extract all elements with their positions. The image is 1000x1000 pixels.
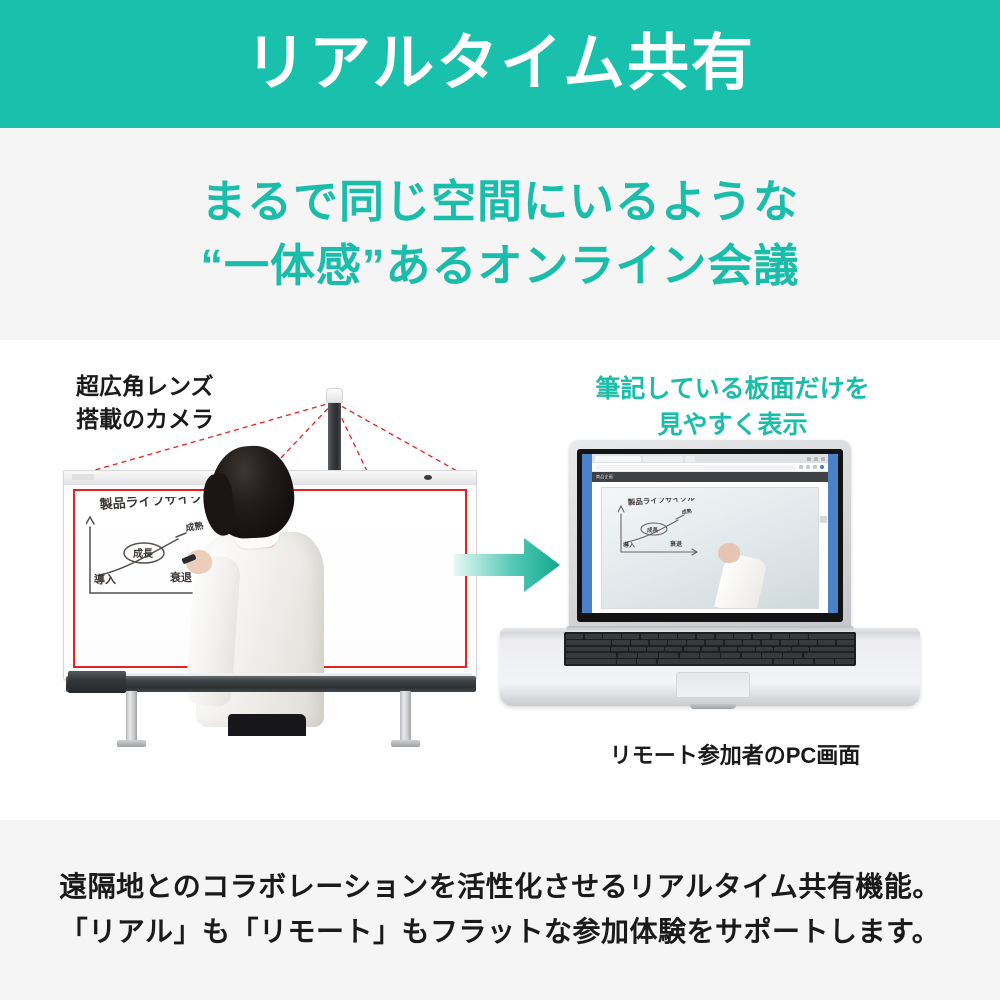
browser-window: 商品企画 <box>592 454 828 613</box>
menu-icon[interactable] <box>813 465 817 469</box>
illustration-area: 超広角レンズ 搭載のカメラ 筆記している板面だけを 見やすく表示 リモート参加者… <box>0 340 1000 820</box>
keyboard-row <box>566 634 854 639</box>
browser-tab-bar[interactable] <box>592 454 828 463</box>
maximize-icon[interactable] <box>814 457 818 461</box>
browser-tab-active[interactable] <box>595 456 641 462</box>
display-annotation-label: 筆記している板面だけを 見やすく表示 <box>560 372 905 443</box>
whiteboard-foot-left <box>117 740 146 747</box>
laptop-lid: 商品企画 <box>569 440 851 636</box>
footer-line-1: 遠隔地とのコラボレーションを活性化させるリアルタイム共有機能。 <box>59 865 941 910</box>
bookmark-star-icon[interactable] <box>806 465 810 469</box>
svg-text:成長: 成長 <box>647 526 659 534</box>
window-controls[interactable] <box>807 457 825 461</box>
svg-text:成熟: 成熟 <box>681 508 692 516</box>
extension-icon[interactable] <box>799 465 803 469</box>
profile-avatar[interactable] <box>820 465 824 469</box>
page-title: リアルタイム共有 <box>245 33 755 95</box>
close-icon[interactable] <box>821 457 825 461</box>
subheading-line-1: まるで同じ空間にいるような <box>201 170 799 234</box>
keyboard-row <box>566 659 854 664</box>
subheading-block: まるで同じ空間にいるような “一体感”あるオンライン会議 <box>0 128 1000 340</box>
laptop-keyboard[interactable] <box>564 632 856 666</box>
laptop-screen: 商品企画 <box>582 454 838 613</box>
subheading-line-2: “一体感”あるオンライン会議 <box>200 234 799 298</box>
laptop-trackpad[interactable] <box>676 672 750 698</box>
minimize-icon[interactable] <box>807 457 811 461</box>
camera-head <box>326 388 343 403</box>
laptop-bezel: 商品企画 <box>577 449 843 622</box>
whiteboard-scene: 製品ライフサイクル 成長 導入 衰退 成熟 <box>60 388 480 738</box>
page-header-banner: リアルタイム共有 <box>0 0 1000 128</box>
page-side-tab[interactable] <box>820 516 827 523</box>
svg-text:導入: 導入 <box>623 541 635 549</box>
svg-text:導入: 導入 <box>94 572 116 586</box>
camera-lens-icon <box>599 393 604 396</box>
laptop-device: 商品企画 <box>500 440 920 730</box>
whiteboard-sensor-dot-icon <box>424 475 432 480</box>
laptop-front-latch <box>690 704 736 709</box>
browser-toolbar-icons[interactable] <box>799 465 824 469</box>
shared-whiteboard-view: 製品ライフサイクル 成長 導入 衰退 成熟 <box>601 487 819 609</box>
whiteboard-leg-right <box>400 691 411 743</box>
keyboard-row <box>566 640 854 645</box>
whiteboard-leg-left <box>126 691 137 743</box>
footer-description-block: 遠隔地とのコラボレーションを活性化させるリアルタイム共有機能。 「リアル」も「リ… <box>0 820 1000 1000</box>
svg-text:衰退: 衰退 <box>669 540 682 548</box>
browser-page-content: 製品ライフサイクル 成長 導入 衰退 成熟 <box>592 482 828 613</box>
laptop-caption-label: リモート参加者のPC画面 <box>555 738 915 770</box>
svg-text:成長: 成長 <box>133 547 154 560</box>
browser-address-bar[interactable] <box>592 463 828 472</box>
whiteboard-foot-right <box>391 740 420 747</box>
whiteboard-control-panel[interactable] <box>68 671 126 693</box>
svg-text:製品ライフサイクル: 製品ライフサイクル <box>626 498 695 507</box>
url-input[interactable] <box>596 465 796 470</box>
keyboard-row <box>566 653 854 658</box>
browser-tab-secondary[interactable] <box>643 456 683 462</box>
person-trousers <box>228 714 306 736</box>
browser-bookmark-bar[interactable]: 商品企画 <box>592 472 828 482</box>
keyboard-row <box>566 647 854 652</box>
browser-new-tab-button[interactable] <box>685 456 695 462</box>
bookmark-label[interactable]: 商品企画 <box>596 474 613 480</box>
person-writing-on-whiteboard <box>184 446 334 743</box>
whiteboard-pen-tray <box>66 676 476 692</box>
footer-line-2: 「リアル」も「リモート」もフラットな参加体験をサポートします。 <box>60 910 940 955</box>
whiteboard-brand-tag <box>72 474 94 480</box>
